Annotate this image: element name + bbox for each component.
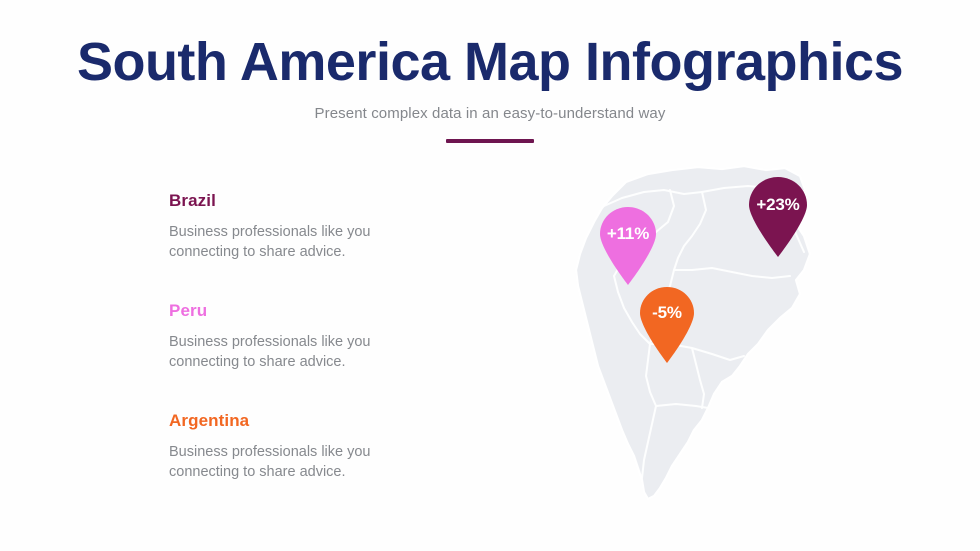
page-subtitle: Present complex data in an easy-to-under… <box>0 105 980 122</box>
country-description-peru: Business professionals like you connecti… <box>169 332 387 372</box>
country-list: Brazil Business professionals like you c… <box>169 191 469 482</box>
south-america-map: +23% +11% -5% <box>552 158 852 503</box>
location-pin-icon <box>638 286 696 364</box>
list-item-argentina: Argentina Business professionals like yo… <box>169 411 469 482</box>
location-pin-icon <box>747 176 809 258</box>
country-title-brazil: Brazil <box>169 191 469 211</box>
country-title-argentina: Argentina <box>169 411 469 431</box>
list-item-brazil: Brazil Business professionals like you c… <box>169 191 469 262</box>
country-description-argentina: Business professionals like you connecti… <box>169 442 387 482</box>
list-item-peru: Peru Business professionals like you con… <box>169 301 469 372</box>
page-title: South America Map Infographics <box>0 34 980 91</box>
country-description-brazil: Business professionals like you connecti… <box>169 222 387 262</box>
header: South America Map Infographics Present c… <box>0 34 980 143</box>
slide-root: South America Map Infographics Present c… <box>0 0 980 551</box>
location-pin-icon <box>598 206 658 286</box>
title-underline-accent <box>446 139 534 143</box>
country-title-peru: Peru <box>169 301 469 321</box>
